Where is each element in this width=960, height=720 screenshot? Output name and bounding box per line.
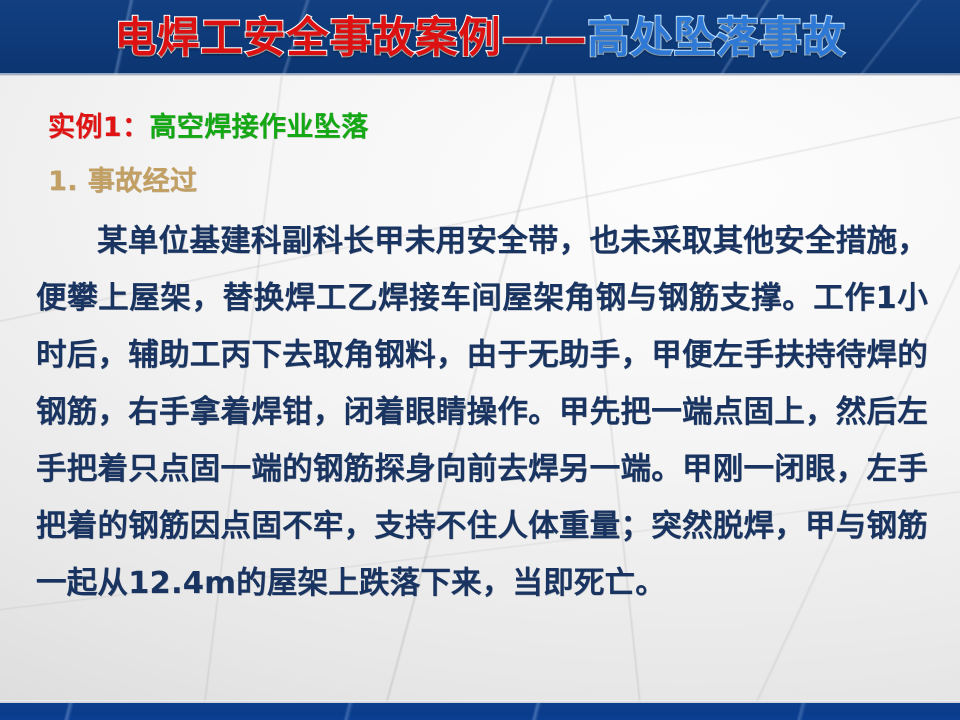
case-label: 实例1：	[48, 112, 149, 143]
slide-title-dash: ——	[502, 13, 588, 62]
body-paragraph: 某单位基建科副科长甲未用安全带，也未采取其他安全措施，便攀上屋架，替换焊工乙焊接…	[36, 213, 928, 612]
presentation-slide: 电焊工安全事故案例——高处坠落事故 实例1：高空焊接作业坠落 1. 事故经过 某…	[0, 0, 960, 720]
case-subtitle: 实例1：高空焊接作业坠落	[48, 105, 369, 144]
slide-content: 实例1：高空焊接作业坠落 1. 事故经过 某单位基建科副科长甲未用安全带，也未采…	[0, 75, 960, 703]
case-topic: 高空焊接作业坠落	[149, 112, 368, 143]
slide-title-part1: 电焊工安全事故案例	[114, 13, 501, 62]
slide-title-part2: 高处坠落事故	[588, 13, 846, 62]
section-heading: 1. 事故经过	[48, 159, 197, 198]
slide-footer-bar	[0, 703, 960, 720]
body-text-block: 某单位基建科副科长甲未用安全带，也未采取其他安全措施，便攀上屋架，替换焊工乙焊接…	[36, 213, 928, 612]
slide-title: 电焊工安全事故案例——高处坠落事故	[0, 11, 960, 65]
